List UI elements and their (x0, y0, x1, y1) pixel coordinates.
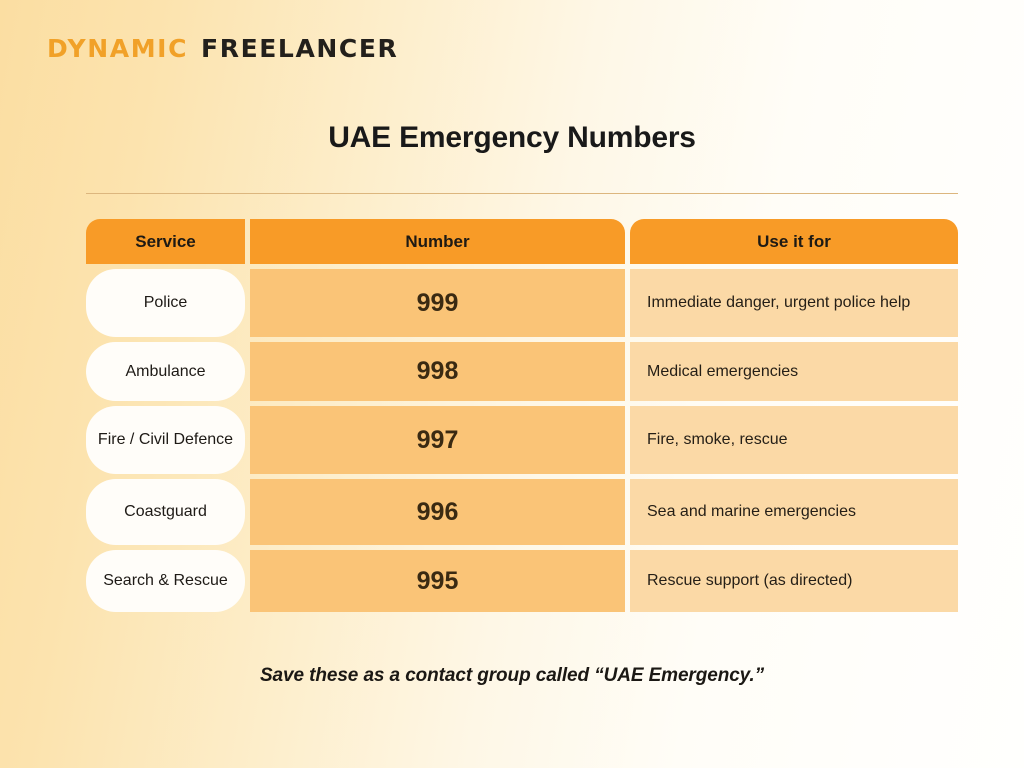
title-divider (86, 193, 958, 194)
emergency-number-cell: 995 (250, 550, 625, 612)
service-name-cell: Police (86, 269, 245, 337)
column-header-service: Service (86, 219, 245, 264)
column-header-use-it-for: Use it for (630, 219, 958, 264)
table-row: Fire / Civil Defence 997 Fire, smoke, re… (86, 406, 958, 474)
emergency-number-cell: 999 (250, 269, 625, 337)
column-header-number: Number (250, 219, 625, 264)
emergency-number-cell: 997 (250, 406, 625, 474)
use-it-for-cell: Fire, smoke, rescue (630, 406, 958, 474)
service-name-cell: Coastguard (86, 479, 245, 545)
brand-logo-dynamic: DYNAMIC (47, 36, 188, 61)
table-row: Ambulance 998 Medical emergencies (86, 342, 958, 401)
brand-logo-freelancer: FREELANCER (201, 36, 398, 61)
footer-note: Save these as a contact group called “UA… (0, 665, 1024, 687)
table-row: Search & Rescue 995 Rescue support (as d… (86, 550, 958, 612)
use-it-for-cell: Sea and marine emergencies (630, 479, 958, 545)
use-it-for-cell: Rescue support (as directed) (630, 550, 958, 612)
emergency-number-cell: 996 (250, 479, 625, 545)
page-title: UAE Emergency Numbers (0, 121, 1024, 155)
table-row: Coastguard 996 Sea and marine emergencie… (86, 479, 958, 545)
emergency-number-cell: 998 (250, 342, 625, 401)
use-it-for-cell: Medical emergencies (630, 342, 958, 401)
brand-logo: DYNAMIC FREELANCER (47, 36, 398, 61)
table-header-row: Service Number Use it for (86, 219, 958, 264)
use-it-for-cell: Immediate danger, urgent police help (630, 269, 958, 337)
infographic-canvas: DYNAMIC FREELANCER UAE Emergency Numbers… (0, 0, 1024, 768)
emergency-numbers-table: Service Number Use it for Police 999 Imm… (86, 219, 958, 617)
service-name-cell: Fire / Civil Defence (86, 406, 245, 474)
service-name-cell: Search & Rescue (86, 550, 245, 612)
table-row: Police 999 Immediate danger, urgent poli… (86, 269, 958, 337)
service-name-cell: Ambulance (86, 342, 245, 401)
